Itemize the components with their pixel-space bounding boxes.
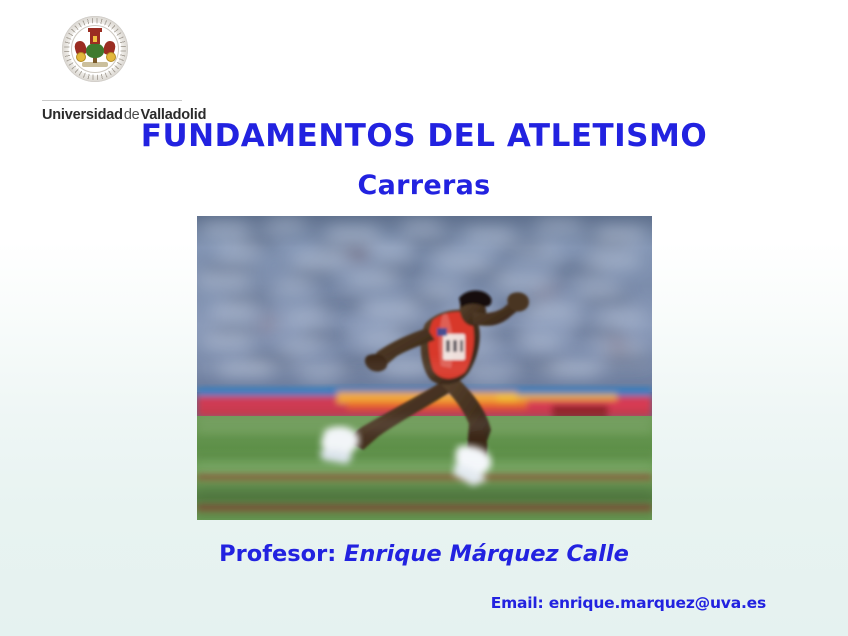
sprinter-photo — [197, 216, 652, 520]
professor-name: Enrique Márquez Calle — [344, 541, 629, 567]
email-line: Email: enrique.marquez@uva.es — [491, 594, 766, 612]
seal-rosette-right-icon — [106, 52, 116, 62]
email-label: Email: — [491, 594, 544, 612]
professor-line: Profesor: Enrique Márquez Calle — [0, 541, 848, 567]
seal-rosette-left-icon — [76, 52, 86, 62]
presentation-slide: UniversidaddeValladolid FUNDAMENTOS DEL … — [0, 0, 848, 636]
slide-subtitle: Carreras — [0, 170, 848, 201]
email-address: enrique.marquez@uva.es — [549, 594, 766, 612]
logo-divider — [42, 100, 182, 101]
seal-tower-icon — [90, 31, 100, 44]
professor-label: Profesor: — [219, 541, 336, 567]
slide-title: FUNDAMENTOS DEL ATLETISMO — [0, 118, 848, 154]
university-logo: UniversidaddeValladolid — [20, 16, 180, 82]
university-seal-icon — [62, 16, 128, 82]
sprinter-photo-graphic — [197, 216, 652, 520]
seal-tree-crown-icon — [86, 43, 104, 58]
